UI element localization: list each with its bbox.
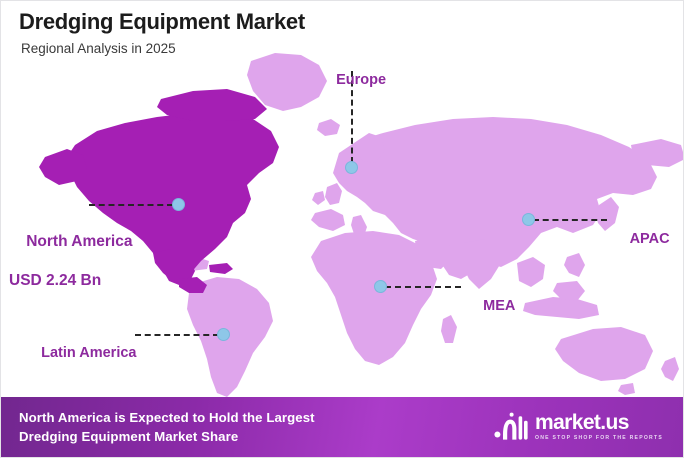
region-label-apac-name: APAC: [630, 231, 670, 247]
page-subtitle: Regional Analysis in 2025: [21, 41, 305, 57]
region-label-latin-america-name: Latin America: [41, 345, 136, 361]
highlight-canada-arctic: [157, 89, 267, 121]
landmass-indonesia: [523, 297, 599, 319]
page-title: Dredging Equipment Market: [19, 9, 305, 34]
landmass-australia: [555, 327, 653, 381]
landmass-british-isles: [325, 183, 342, 205]
footer-banner: North America is Expected to Hold the La…: [1, 397, 684, 457]
landmass-south-america: [187, 277, 273, 397]
leader-line-latin-america: [135, 334, 219, 336]
landmass-new-zealand: [661, 357, 679, 381]
landmass-tasmania: [618, 383, 635, 395]
brand-wordmark: market.us ONE STOP SHOP FOR THE REPORTS: [535, 412, 663, 441]
footer-headline: North America is Expected to Hold the La…: [19, 408, 315, 446]
landmass-iceland: [317, 119, 340, 136]
region-label-latin-america: Latin America: [25, 326, 136, 380]
leader-line-mea: [385, 286, 461, 288]
landmass-philippines: [564, 253, 585, 277]
marker-apac[interactable]: [522, 213, 535, 226]
region-label-mea: MEA: [467, 279, 515, 333]
marker-europe[interactable]: [345, 161, 358, 174]
marker-mea[interactable]: [374, 280, 387, 293]
region-label-north-america: North America USD 2.24 Bn: [9, 213, 132, 329]
marker-latin-america[interactable]: [217, 328, 230, 341]
footer-headline-line1: North America is Expected to Hold the La…: [19, 408, 315, 427]
landmass-ireland: [312, 191, 325, 205]
region-label-europe-name: Europe: [336, 72, 386, 88]
region-label-apac: APAC: [614, 212, 670, 266]
marker-north-america[interactable]: [172, 198, 185, 211]
region-label-north-america-name: North America: [26, 233, 132, 250]
market-us-logo-icon: [494, 412, 528, 442]
landmass-iberia: [311, 209, 345, 231]
region-value-north-america: USD 2.24 Bn: [9, 271, 132, 290]
brand-logo[interactable]: market.us ONE STOP SHOP FOR THE REPORTS: [494, 412, 669, 442]
region-label-europe: Europe: [320, 53, 386, 107]
highlight-cuba: [209, 263, 233, 274]
brand-tagline: ONE STOP SHOP FOR THE REPORTS: [535, 436, 663, 441]
landmass-southeast-asia: [517, 257, 545, 287]
brand-name: market.us: [535, 412, 663, 433]
footer-headline-line2: Dredging Equipment Market Share: [19, 427, 315, 446]
leader-line-north-america: [89, 204, 173, 206]
landmass-madagascar: [441, 315, 457, 343]
leader-line-apac: [533, 219, 607, 221]
region-label-mea-name: MEA: [483, 298, 515, 314]
header: Dredging Equipment Market Regional Analy…: [19, 9, 305, 57]
highlight-central-america: [179, 277, 207, 293]
infographic-canvas: Dredging Equipment Market Regional Analy…: [0, 0, 684, 458]
